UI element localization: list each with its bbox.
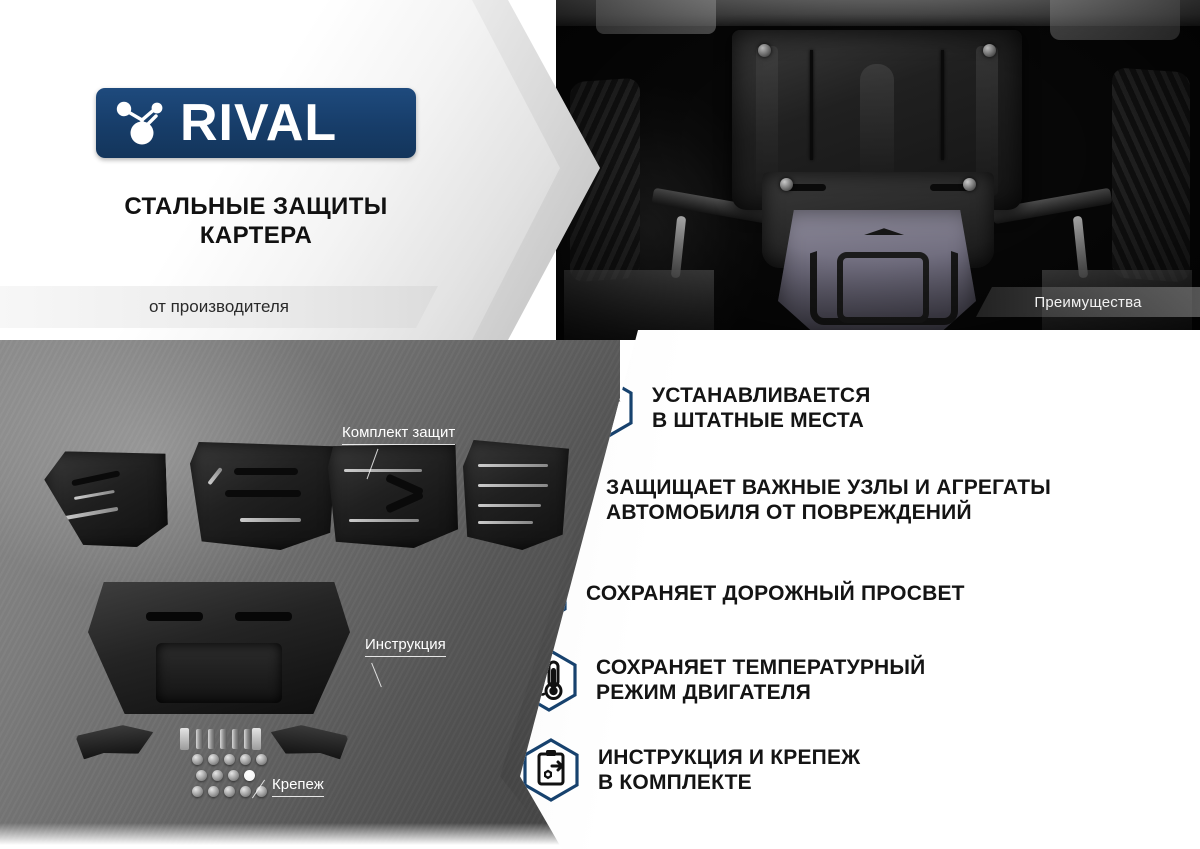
banner-stage: Преимущества RIVAL СТАЛЬНЫЕ ЗАЩИТЫ КАРТЕ… <box>0 0 1200 849</box>
brand-logo[interactable]: RIVAL <box>96 88 416 158</box>
undercarriage-photo: Преимущества <box>556 0 1200 340</box>
tab-advantages[interactable]: Преимущества <box>976 287 1200 317</box>
main-skid-plate-recess <box>156 643 282 704</box>
clipboard-bolt-icon <box>522 738 580 802</box>
feature-temperature-line1: СОХРАНЯЕТ ТЕМПЕРАТУРНЫЙ <box>596 656 925 679</box>
molecule-icon <box>112 96 170 150</box>
skid-plate-panel-2 <box>190 442 336 550</box>
feature-kit-line1: ИНСТРУКЦИЯ И КРЕПЕЖ <box>598 746 860 769</box>
callout-hardware-label: Крепеж <box>272 776 324 797</box>
feature-kit-line2: В КОМПЛЕКТЕ <box>598 771 752 794</box>
feature-temperature-line2: РЕЖИМ ДВИГАТЕЛЯ <box>596 681 811 704</box>
feature-item-install[interactable]: УСТАНАВЛИВАЕТСЯ В ШТАТНЫЕ МЕСТА <box>576 376 871 440</box>
feature-install-text: УСТАНАВЛИВАЕТСЯ В ШТАТНЫЕ МЕСТА <box>652 383 871 433</box>
feature-clearance-line1: СОХРАНЯЕТ ДОРОЖНЫЙ ПРОСВЕТ <box>586 582 965 605</box>
tab-advantages-label: Преимущества <box>1034 294 1141 311</box>
feature-kit-text: ИНСТРУКЦИЯ И КРЕПЕЖ В КОМПЛЕКТЕ <box>598 745 860 795</box>
feature-clearance-text: СОХРАНЯЕТ ДОРОЖНЫЙ ПРОСВЕТ <box>586 581 965 606</box>
feature-install-line2: В ШТАТНЫЕ МЕСТА <box>652 409 864 432</box>
feature-protect-text: ЗАЩИЩАЕТ ВАЖНЫЕ УЗЛЫ И АГРЕГАТЫ АВТОМОБИ… <box>606 475 1051 525</box>
subtitle-band: от производителя <box>0 286 438 328</box>
callout-kit-label: Комплект защит <box>342 424 455 445</box>
skid-plate-panel-4 <box>463 440 569 550</box>
brand-name: RIVAL <box>180 97 337 149</box>
main-skid-plate <box>88 582 350 714</box>
feature-protect-line2: АВТОМОБИЛЯ ОТ ПОВРЕЖДЕНИЙ <box>606 501 972 524</box>
feature-temperature-text: СОХРАНЯЕТ ТЕМПЕРАТУРНЫЙ РЕЖИМ ДВИГАТЕЛЯ <box>596 655 925 705</box>
skid-plate-panel-3 <box>328 444 458 548</box>
photo-bottom-fade <box>0 823 620 849</box>
callout-instruction-label: Инструкция <box>365 636 446 657</box>
feature-protect-line1: ЗАЩИЩАЕТ ВАЖНЫЕ УЗЛЫ И АГРЕГАТЫ <box>606 476 1051 499</box>
feature-item-temperature[interactable]: СОХРАНЯЕТ ТЕМПЕРАТУРНЫЙ РЕЖИМ ДВИГАТЕЛЯ <box>520 648 925 712</box>
page-title-line1: СТАЛЬНЫЕ ЗАЩИТЫ <box>0 192 512 221</box>
features-list: УСТАНАВЛИВАЕТСЯ В ШТАТНЫЕ МЕСТА ЗАЩИЩАЕТ… <box>520 330 1200 849</box>
feature-item-protect[interactable]: ЗАЩИЩАЕТ ВАЖНЫЕ УЗЛЫ И АГРЕГАТЫ АВТОМОБИ… <box>530 468 1051 532</box>
feature-item-kit[interactable]: ИНСТРУКЦИЯ И КРЕПЕЖ В КОМПЛЕКТЕ <box>522 738 860 802</box>
page-title: СТАЛЬНЫЕ ЗАЩИТЫ КАРТЕРА <box>0 192 512 251</box>
features-panel: УСТАНАВЛИВАЕТСЯ В ШТАТНЫЕ МЕСТА ЗАЩИЩАЕТ… <box>520 330 1200 849</box>
subtitle-text: от производителя <box>149 297 289 317</box>
page-title-line2: КАРТЕРА <box>0 221 512 250</box>
feature-install-line1: УСТАНАВЛИВАЕТСЯ <box>652 384 871 407</box>
feature-item-clearance[interactable]: СОХРАНЯЕТ ДОРОЖНЫЙ ПРОСВЕТ <box>510 562 965 626</box>
